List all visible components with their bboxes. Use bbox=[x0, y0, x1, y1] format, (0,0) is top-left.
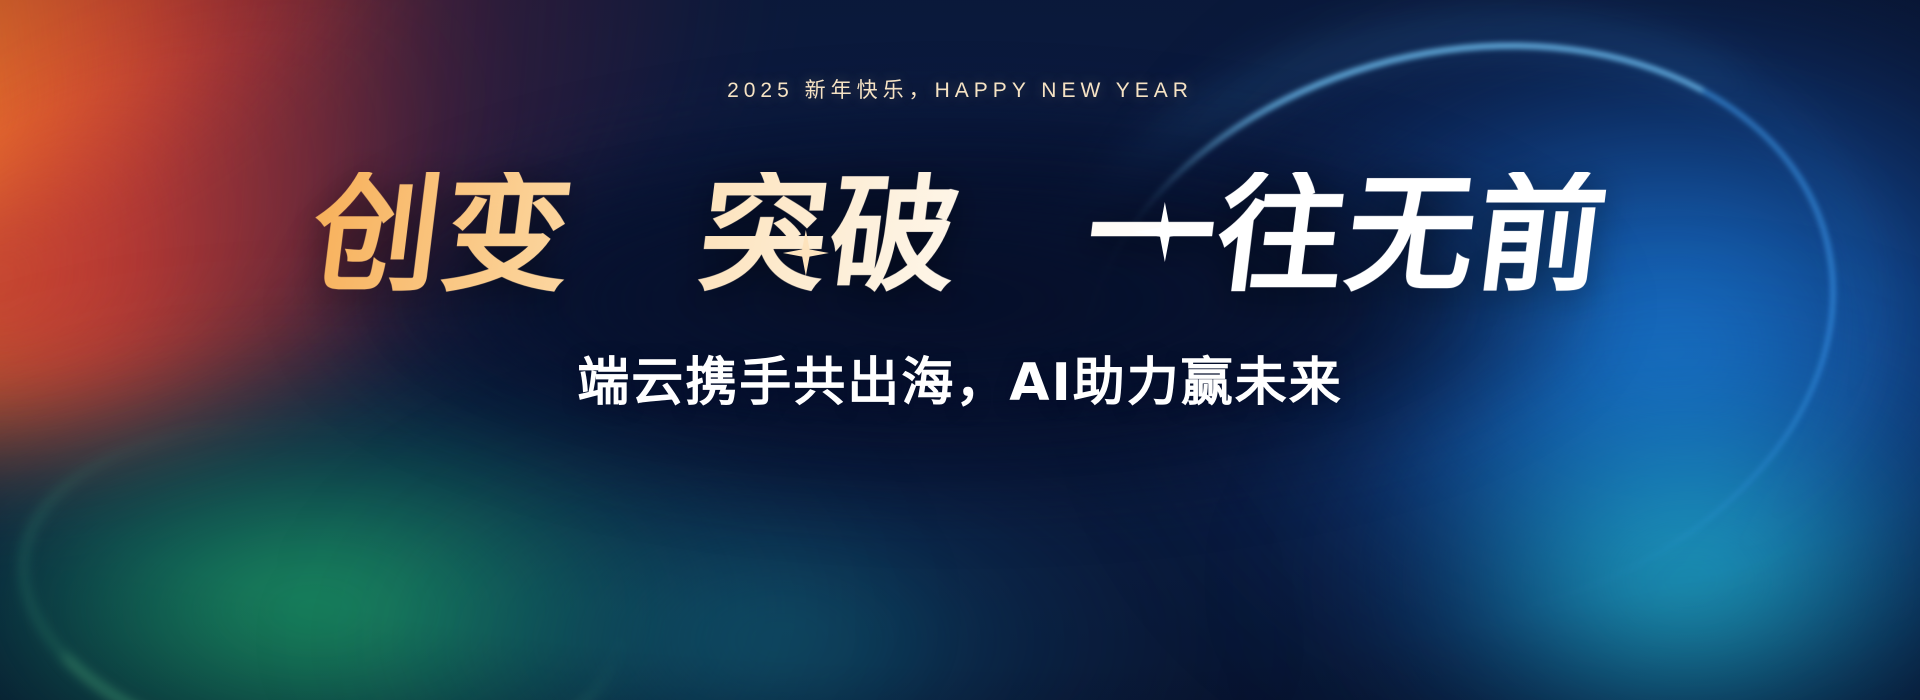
headline-segment-1: 创变 bbox=[305, 172, 581, 300]
banner-content: 2025 新年快乐，HAPPY NEW YEAR 创变 突破 一往无前 端云携手… bbox=[0, 0, 1920, 700]
banner-headline-group: 创变 突破 一往无前 bbox=[313, 172, 1607, 300]
headline-segment-2: 突破 bbox=[692, 172, 968, 300]
new-year-campaign-banner: 2025 新年快乐，HAPPY NEW YEAR 创变 突破 一往无前 端云携手… bbox=[0, 0, 1920, 700]
banner-headline: 创变 突破 一往无前 bbox=[305, 172, 1615, 300]
banner-kicker-text: 2025 新年快乐，HAPPY NEW YEAR bbox=[727, 74, 1193, 104]
banner-subtitle-text: 端云携手共出海，AI助力赢未来 bbox=[577, 340, 1343, 415]
